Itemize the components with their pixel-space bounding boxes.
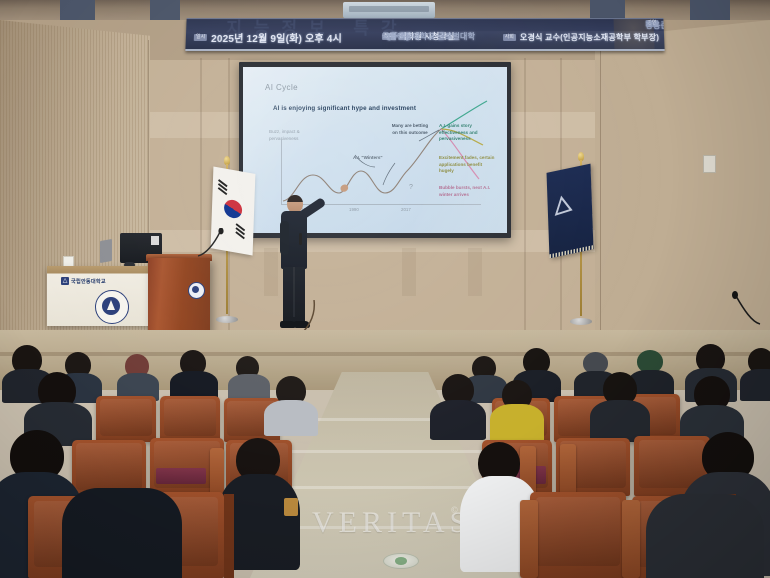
banner-date-text: 2025년 12월 9일(화) 오후 4시 bbox=[211, 30, 342, 45]
wall-recess-b bbox=[402, 248, 416, 296]
wall-slat-c bbox=[524, 58, 526, 338]
desk-nameplate-text: 국립안동대학교 bbox=[71, 278, 106, 285]
ceiling-speaker-right bbox=[690, 0, 730, 20]
aisle-step-2 bbox=[285, 450, 487, 453]
banner-date-tag: 일시 bbox=[194, 34, 207, 41]
chart-annotation-many: Many are betting on this outcome bbox=[389, 123, 431, 136]
watermark-text: VERITAS bbox=[312, 506, 471, 540]
university-flag: △ bbox=[547, 164, 594, 259]
handheld-microphone bbox=[299, 233, 302, 245]
led-banner: 지능정보 특강 일시 2025년 12월 9일(화) 오후 4시 장소 어학원 … bbox=[185, 18, 664, 51]
banner-place-tag: 장소 bbox=[382, 33, 395, 40]
presenter-arm bbox=[280, 221, 289, 255]
seat-divider bbox=[224, 494, 234, 578]
banner-speaker2-text: 오경식 교수(인공지능소재공학부 학부장) bbox=[520, 32, 659, 43]
seat-cushion bbox=[156, 468, 206, 484]
carpet-emblem-icon bbox=[383, 553, 419, 569]
monitor-label bbox=[151, 236, 159, 245]
armrest bbox=[210, 448, 224, 496]
banner-speaker2-group: 사회 오경식 교수(인공지능소재공학부 학부장) bbox=[503, 32, 660, 43]
watermark-copyright: © bbox=[451, 505, 458, 515]
armrest bbox=[560, 444, 576, 496]
chart-annotation-question: ? bbox=[409, 183, 413, 193]
auditorium-photo: 지능정보 특강 일시 2025년 12월 9일(화) 오후 4시 장소 어학원 … bbox=[0, 0, 770, 578]
side-microphone bbox=[724, 288, 764, 328]
university-mark-icon: △ bbox=[61, 277, 69, 285]
chart-annotation-winters: A.I. "Winters" bbox=[353, 155, 383, 162]
ceiling-panel-left bbox=[150, 0, 180, 20]
banner-speaker2-tag: 사회 bbox=[503, 34, 516, 41]
ceiling-panel-right bbox=[590, 0, 625, 20]
podium-microphone bbox=[196, 228, 224, 258]
banner-place-text: 어학원 시청각실 bbox=[399, 31, 454, 42]
flag-base-right bbox=[570, 318, 592, 325]
wall-control-panel[interactable] bbox=[703, 155, 716, 173]
flag-base-left bbox=[216, 316, 238, 323]
university-flag-emblem: △ bbox=[552, 184, 588, 234]
banner-speaker1-tag: 강연 bbox=[645, 20, 658, 27]
aisle-step-3 bbox=[276, 486, 496, 489]
desk-emblem-icon bbox=[95, 290, 129, 324]
banner-speaker1-group: 강연 장용준 교수(전자/제어학부 학부장) bbox=[645, 20, 658, 27]
banner-place-group: 장소 어학원 시청각실 [주최] 국립안동대학교 글로벌대학 bbox=[382, 31, 455, 42]
chart-branch-green-label: A.I. gains story effectiveness and perva… bbox=[439, 123, 497, 143]
podium-emblem-icon bbox=[188, 282, 205, 299]
chart-branch-pink-label: Bubble bursts, next A.I. winter arrives bbox=[439, 185, 497, 198]
taeguk-symbol bbox=[224, 198, 243, 219]
seat[interactable] bbox=[160, 396, 220, 442]
seat[interactable] bbox=[530, 492, 626, 578]
control-monitor-small[interactable] bbox=[100, 239, 112, 263]
armrest bbox=[622, 500, 640, 578]
banner-date-group: 일시 2025년 12월 9일(화) 오후 4시 bbox=[194, 30, 343, 45]
ceiling-speaker-left bbox=[60, 0, 95, 20]
armrest bbox=[520, 500, 538, 578]
drink-cup bbox=[284, 498, 298, 516]
wall-corner-right bbox=[600, 40, 601, 340]
wall-recess-c bbox=[468, 248, 482, 296]
chart-branch-olive-label: Excitement fades, certain applications b… bbox=[439, 155, 497, 175]
desk-nameplate: △ 국립안동대학교 bbox=[61, 277, 106, 285]
ceiling-light bbox=[343, 2, 435, 18]
seat[interactable] bbox=[96, 396, 156, 442]
